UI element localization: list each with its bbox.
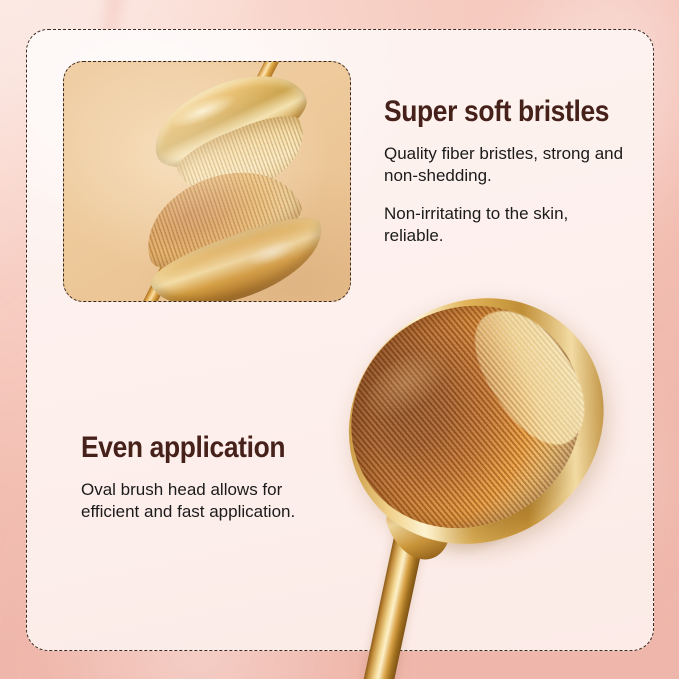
feature-block-super-soft-bristles: Super soft bristles Quality fiber bristl… <box>384 96 630 248</box>
feature-paragraph: Quality fiber bristles, strong and non-s… <box>384 143 630 188</box>
feature-paragraph: Non-irritating to the skin, reliable. <box>384 203 630 248</box>
hero-product-photo <box>352 300 662 679</box>
hero-bristles-shine <box>351 329 475 440</box>
feature-heading: Super soft bristles <box>384 96 600 128</box>
feature-heading: Even application <box>81 432 306 464</box>
product-infographic: Super soft bristles Quality fiber bristl… <box>0 0 679 679</box>
feature-paragraph: Oval brush head allows for efficient and… <box>81 479 337 524</box>
feature-block-even-application: Even application Oval brush head allows … <box>81 432 337 524</box>
hero-brush-head <box>301 249 665 613</box>
inset-product-photo <box>63 61 351 302</box>
inset-brush-head-lower <box>124 146 341 302</box>
hero-bristles <box>308 261 624 572</box>
